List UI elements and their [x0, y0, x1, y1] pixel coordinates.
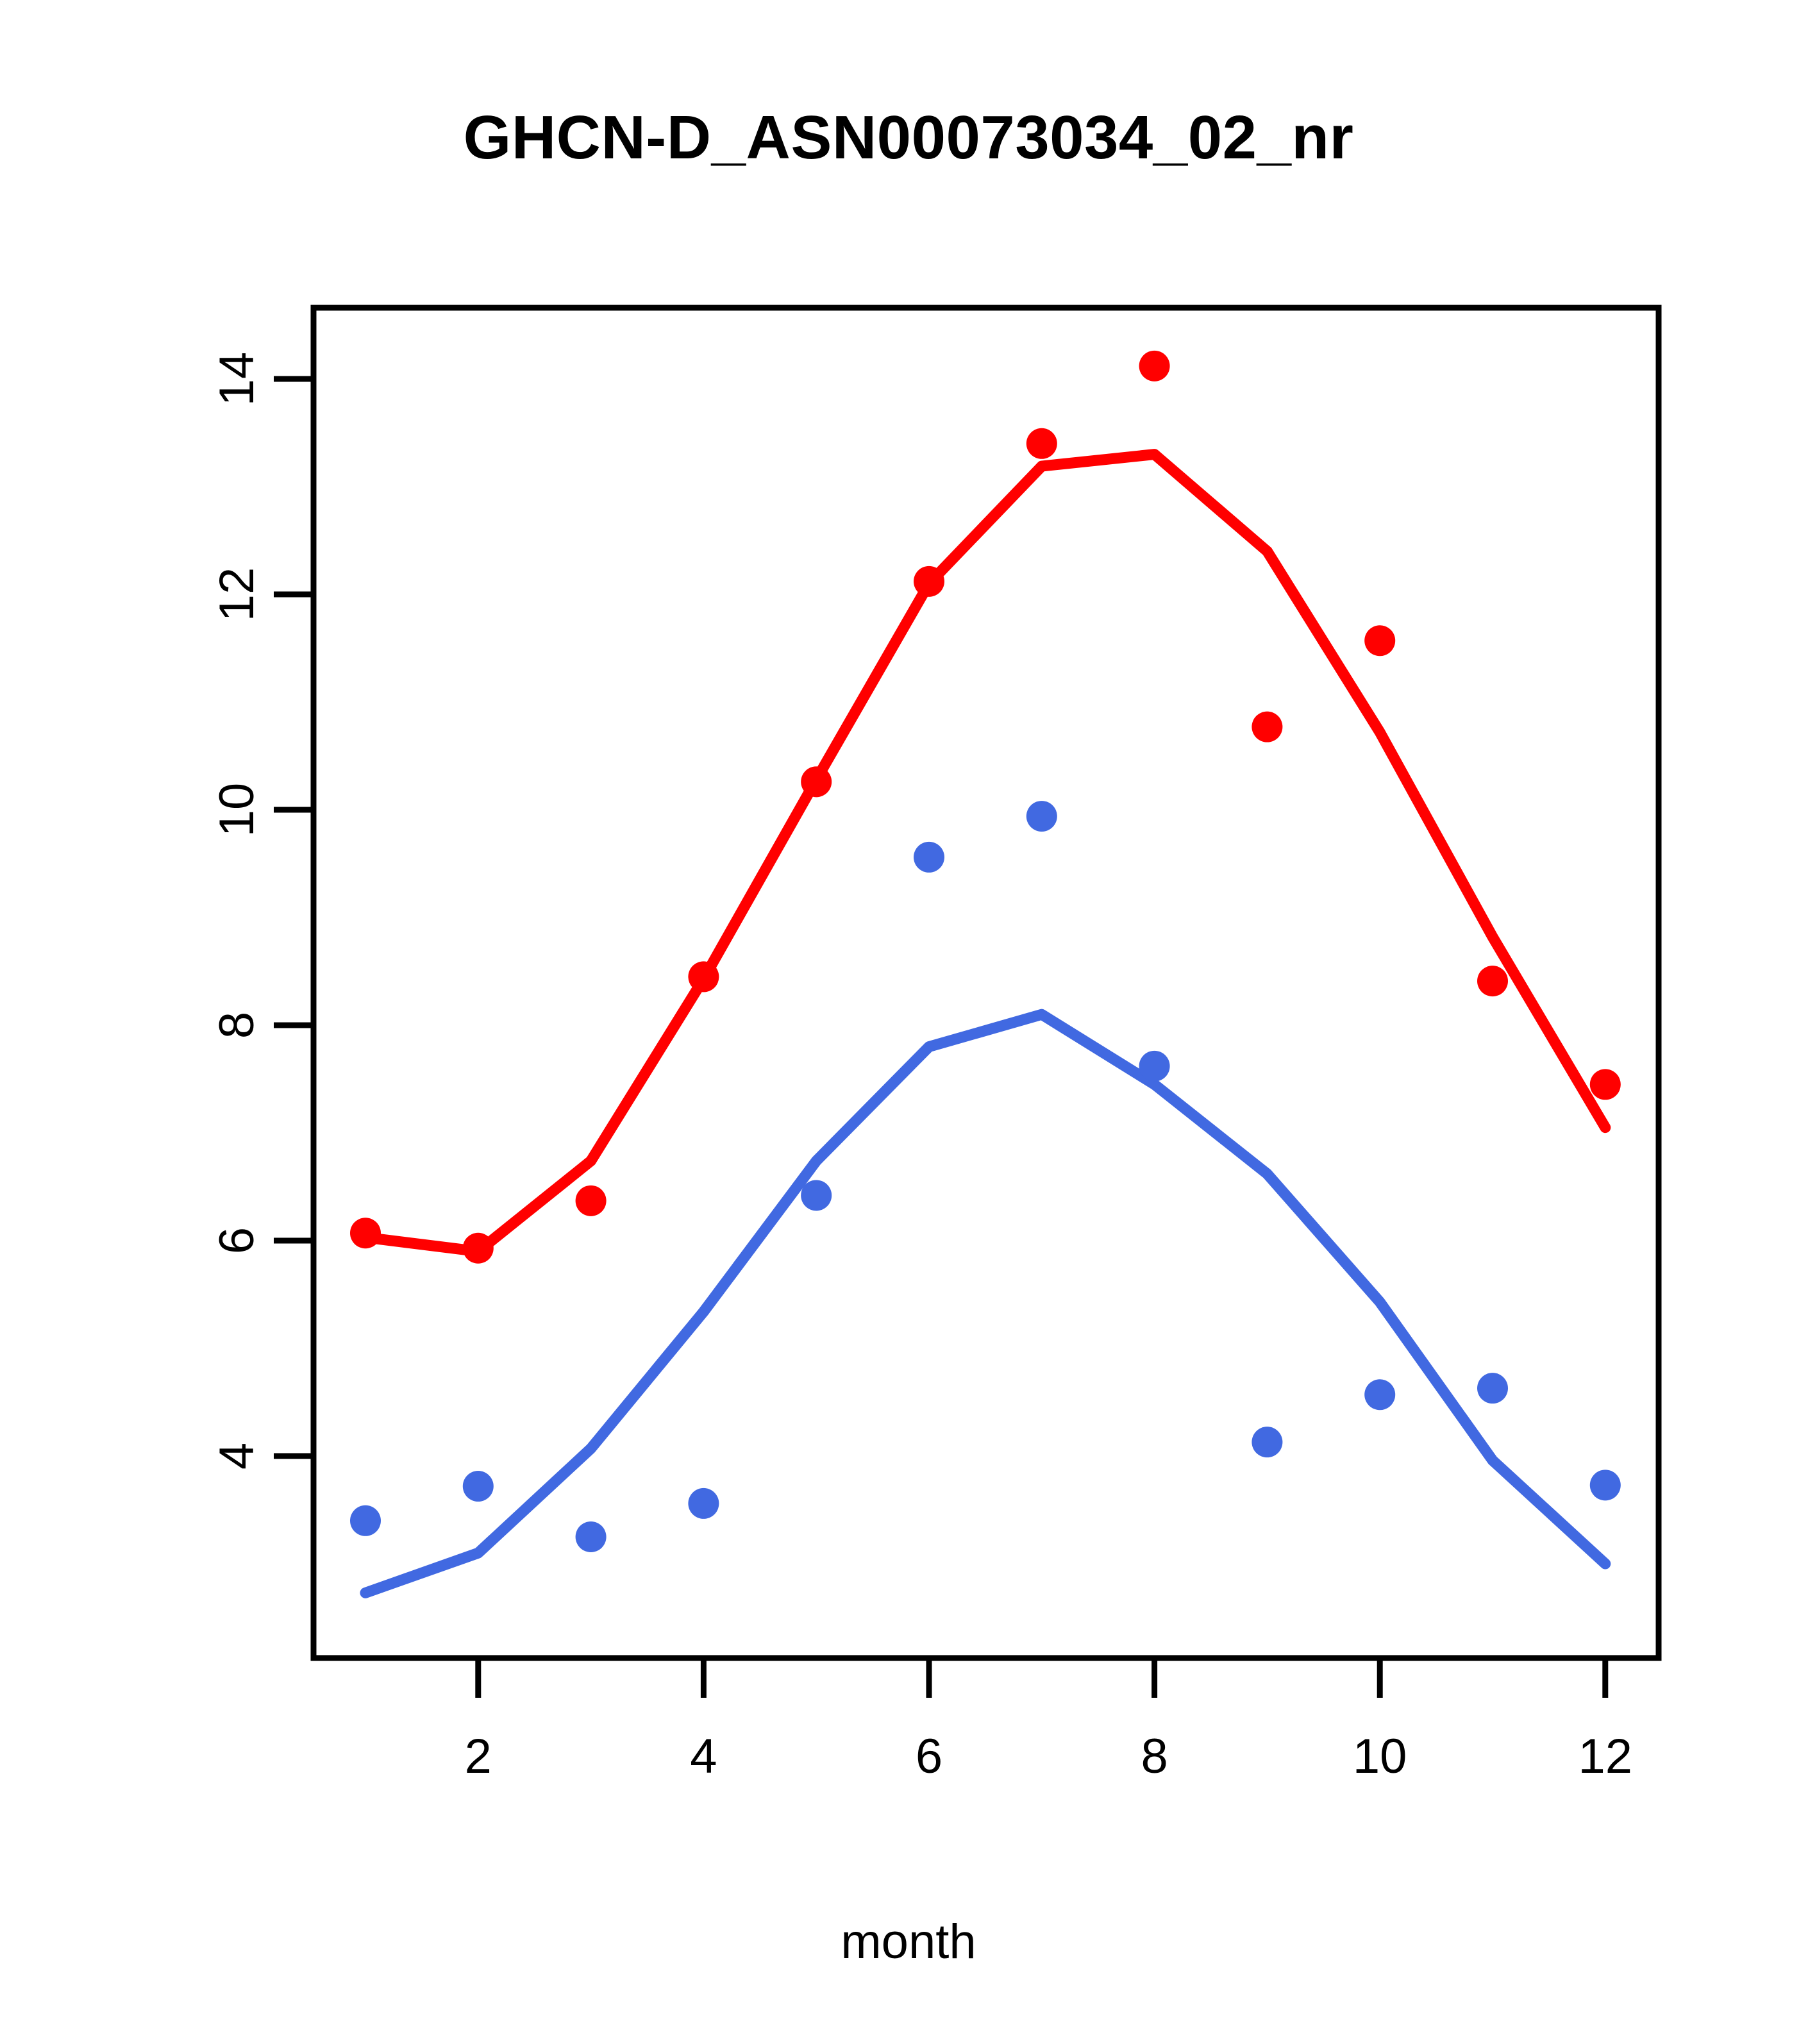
x-tick-label: 2 — [465, 1729, 492, 1784]
y-tick-label: 6 — [192, 1209, 282, 1273]
chart-page: GHCN-D_ASN00073034_02_nr 24681012 468101… — [0, 0, 1817, 2044]
data-point — [463, 1233, 494, 1264]
data-point — [914, 566, 944, 597]
data-point — [1590, 1470, 1621, 1500]
data-point — [914, 842, 944, 873]
data-point — [576, 1521, 607, 1552]
data-point — [1477, 1373, 1508, 1403]
data-point — [350, 1218, 381, 1248]
x-tick-label: 4 — [690, 1729, 717, 1784]
y-tick-label: 10 — [192, 778, 282, 842]
data-point — [1026, 428, 1057, 459]
y-tick-label: 12 — [192, 562, 282, 626]
red-line — [365, 455, 1605, 1252]
data-point — [1252, 712, 1282, 742]
blue-trend-line — [365, 1014, 1605, 1593]
data-point — [1364, 1379, 1395, 1410]
data-point — [463, 1471, 494, 1502]
x-tick-label: 6 — [916, 1729, 942, 1784]
red-trend-line — [365, 455, 1605, 1252]
data-point — [688, 961, 719, 992]
data-point — [1477, 966, 1508, 996]
x-axis-ticks — [478, 1658, 1605, 1698]
data-point — [1590, 1069, 1621, 1100]
data-point — [576, 1185, 607, 1216]
x-tick-label: 12 — [1578, 1729, 1633, 1784]
red-data-points — [350, 351, 1621, 1264]
plot-border — [314, 308, 1659, 1658]
x-tick-label: 8 — [1141, 1729, 1168, 1784]
data-point — [1364, 625, 1395, 656]
data-point — [801, 766, 832, 797]
y-tick-label: 8 — [192, 993, 282, 1057]
data-point — [688, 1488, 719, 1519]
data-point — [801, 1180, 832, 1210]
y-axis-ticks — [274, 379, 314, 1456]
x-tick-label: 10 — [1353, 1729, 1407, 1784]
y-tick-label: 4 — [192, 1424, 282, 1488]
y-tick-label: 14 — [192, 347, 282, 411]
blue-data-points — [350, 801, 1621, 1552]
x-axis-title: month — [0, 1914, 1817, 1970]
data-point — [1139, 351, 1170, 381]
data-point — [1252, 1427, 1282, 1457]
data-point — [1026, 801, 1057, 832]
data-point — [1139, 1051, 1170, 1082]
blue-line — [365, 1014, 1605, 1593]
data-point — [350, 1505, 381, 1536]
